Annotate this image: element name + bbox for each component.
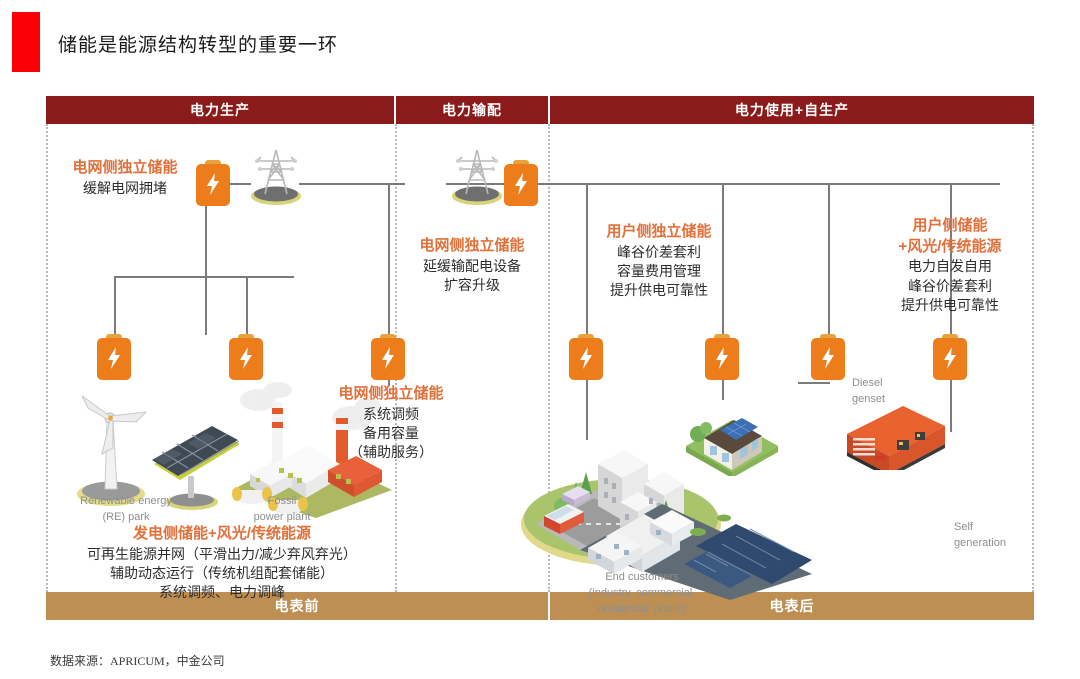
block-heading: 电网侧独立储能 bbox=[50, 158, 200, 179]
caption-line: Fossil bbox=[222, 494, 342, 510]
caption-renewable-park: Renewable energy (RE) park bbox=[56, 494, 196, 526]
block-grid-side-congestion: 电网侧独立储能 缓解电网拥堵 bbox=[50, 158, 200, 198]
bolt-icon bbox=[512, 170, 530, 198]
battery-bolt-icon[interactable] bbox=[569, 334, 603, 380]
bolt-icon bbox=[577, 344, 595, 372]
caption-line: genset bbox=[852, 392, 922, 408]
bolt-icon bbox=[941, 344, 959, 372]
caption-line: power plant bbox=[222, 510, 342, 526]
connector-drop-genset bbox=[828, 183, 830, 335]
battery-bolt-icon[interactable] bbox=[705, 334, 739, 380]
diagram-body: 电网侧独立储能 缓解电网拥堵 电网侧独立储能 延缓输配电设备 扩容升级 电网侧独… bbox=[46, 124, 1034, 592]
block-line: 容量费用管理 bbox=[574, 262, 744, 281]
bolt-icon bbox=[204, 170, 222, 198]
block-line: 提升供电可靠性 bbox=[866, 296, 1034, 315]
block-line: 系统调频 bbox=[314, 405, 468, 424]
header-power-usage: 电力使用+自生产 bbox=[550, 96, 1034, 124]
column-divider-left bbox=[46, 124, 48, 592]
diesel-genset-icon bbox=[841, 400, 951, 470]
connector-drop-plant bbox=[246, 276, 248, 336]
block-user-side-standalone: 用户侧独立储能 峰谷价差套利 容量费用管理 提升供电可靠性 bbox=[574, 222, 744, 301]
connector-bat-genset bbox=[798, 382, 830, 384]
header-label: 电力使用+自生产 bbox=[735, 100, 849, 120]
block-line: （辅助服务） bbox=[314, 443, 468, 462]
block-user-side-hybrid: 用户侧储能 +风光/传统能源 电力自发自用 峰谷价差套利 提升供电可靠性 bbox=[866, 216, 1034, 315]
header-power-production: 电力生产 bbox=[46, 96, 394, 124]
caption-end-customers: End customers (industry, commercial, res… bbox=[554, 570, 730, 618]
connector-bat2-right-bus bbox=[536, 183, 1000, 185]
caption-fossil-plant: Fossil power plant bbox=[222, 494, 342, 526]
bolt-icon bbox=[819, 344, 837, 372]
battery-bolt-icon[interactable] bbox=[371, 334, 405, 380]
bolt-icon bbox=[105, 344, 123, 372]
bolt-icon bbox=[379, 344, 397, 372]
battery-bolt-icon[interactable] bbox=[196, 160, 230, 206]
caption-line: End customers bbox=[554, 570, 730, 586]
caption-line: Renewable energy bbox=[56, 494, 196, 510]
diagram-frame: 电力生产 电力输配 电力使用+自生产 电表前 电表后 bbox=[46, 96, 1034, 620]
bolt-icon bbox=[713, 344, 731, 372]
bolt-icon bbox=[237, 344, 255, 372]
solar-house-icon bbox=[680, 392, 784, 476]
block-generation-side: 发电侧储能+风光/传统能源 可再生能源并网（平滑出力/减少弃风弃光） 辅助动态运… bbox=[52, 524, 392, 603]
caption-line: Diesel bbox=[852, 376, 922, 392]
caption-line: (industry, commercial, bbox=[554, 586, 730, 602]
block-line: 缓解电网拥堵 bbox=[50, 179, 200, 198]
block-heading: 用户侧储能 bbox=[866, 216, 1034, 237]
caption-line: (RE) park bbox=[56, 510, 196, 526]
block-line: 峰谷价差套利 bbox=[866, 277, 1034, 296]
header-label: 电力生产 bbox=[190, 100, 250, 120]
caption-diesel-genset: Diesel genset bbox=[852, 376, 922, 408]
block-grid-side-frequency: 电网侧独立储能 系统调频 备用容量 （辅助服务） bbox=[314, 384, 468, 463]
battery-bolt-icon[interactable] bbox=[811, 334, 845, 380]
transmission-tower-icon bbox=[249, 144, 303, 206]
caption-line: residential, public) bbox=[554, 602, 730, 618]
page-title: 储能是能源结构转型的重要一环 bbox=[58, 30, 338, 57]
source-note: 数据来源：APRICUM，中金公司 bbox=[50, 652, 225, 669]
block-line: 备用容量 bbox=[314, 424, 468, 443]
header-label: 电力输配 bbox=[442, 100, 502, 120]
block-line: 系统调频、电力调峰 bbox=[52, 583, 392, 602]
title-accent-bar bbox=[12, 12, 40, 72]
block-line: 电力自发自用 bbox=[866, 257, 1034, 276]
connector-drop-mid bbox=[388, 183, 390, 335]
connector-left-bus bbox=[114, 276, 294, 278]
battery-bolt-icon[interactable] bbox=[229, 334, 263, 380]
block-line: 扩容升级 bbox=[398, 276, 546, 295]
connector-drop-wind bbox=[114, 276, 116, 336]
block-line: 峰谷价差套利 bbox=[574, 243, 744, 262]
header-power-transmission: 电力输配 bbox=[396, 96, 548, 124]
battery-bolt-icon[interactable] bbox=[933, 334, 967, 380]
block-heading: 电网侧独立储能 bbox=[398, 236, 546, 257]
caption-self-generation: Self generation bbox=[954, 520, 1034, 552]
block-line: 延缓输配电设备 bbox=[398, 257, 546, 276]
block-line: 提升供电可靠性 bbox=[574, 281, 744, 300]
block-heading: 电网侧独立储能 bbox=[314, 384, 468, 405]
block-line: 可再生能源并网（平滑出力/减少弃风弃光） bbox=[52, 545, 392, 564]
block-line: 辅助动态运行（传统机组配套储能） bbox=[52, 564, 392, 583]
block-heading-second: +风光/传统能源 bbox=[866, 237, 1034, 258]
battery-bolt-icon[interactable] bbox=[504, 160, 538, 206]
block-heading: 用户侧独立储能 bbox=[574, 222, 744, 243]
caption-line: generation bbox=[954, 536, 1034, 552]
connector-bat1-tower1 bbox=[229, 183, 251, 185]
block-grid-side-transmission: 电网侧独立储能 延缓输配电设备 扩容升级 bbox=[398, 236, 546, 295]
transmission-tower-icon bbox=[450, 144, 504, 206]
caption-line: Self bbox=[954, 520, 1034, 536]
battery-bolt-icon[interactable] bbox=[97, 334, 131, 380]
block-heading: 发电侧储能+风光/传统能源 bbox=[52, 524, 392, 545]
